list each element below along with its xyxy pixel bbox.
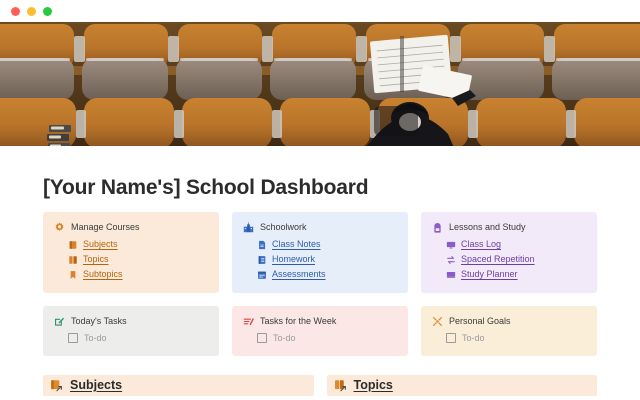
card-tasks-for-the-week: Tasks for the Week To-do [232,306,408,356]
card-header: Personal Goals [432,315,586,327]
database-title[interactable]: Topics [354,378,393,392]
card-title: Personal Goals [449,315,511,327]
link-class-log[interactable]: Class Log [446,237,586,252]
todo-label: To-do [84,331,107,345]
gear-icon [54,222,65,233]
open-book-link-icon [334,379,347,392]
monitor-icon [446,240,456,250]
link-label: Assessments [272,267,326,282]
page-content: [Your Name's] School Dashboard Manage Co… [0,176,640,400]
refresh-arrows-icon [446,255,456,265]
link-spaced-repetition[interactable]: Spaced Repetition [446,252,586,267]
task-card-row: Today's Tasks To-do [43,306,597,356]
book-icon [68,240,78,250]
link-label: Subjects [83,237,118,252]
stacked-books-icon [45,124,75,146]
todo-item[interactable]: To-do [54,331,208,345]
todo-checkbox[interactable] [257,333,267,343]
card-personal-goals: Personal Goals To-do [421,306,597,356]
book-link-icon [50,379,63,392]
link-subtopics[interactable]: Subtopics [68,267,208,282]
card-link-list: Class Log Spaced Repetition [432,237,586,282]
todo-item[interactable]: To-do [243,331,397,345]
page-title: [Your Name's] School Dashboard [43,176,597,200]
card-manage-courses: Manage Courses Subjects [43,212,219,293]
app-window: [Your Name's] School Dashboard Manage Co… [0,0,640,400]
card-header: Today's Tasks [54,315,208,327]
todo-label: To-do [462,331,485,345]
card-todays-tasks: Today's Tasks To-do [43,306,219,356]
link-topics[interactable]: Topics [68,252,208,267]
card-title: Today's Tasks [71,315,127,327]
database-subjects: Subjects [43,375,314,400]
card-link-list: Subjects Topics [54,237,208,282]
card-header: Lessons and Study [432,221,586,233]
close-button[interactable] [11,7,20,16]
link-label: Spaced Repetition [461,252,535,267]
link-label: Study Planner [461,267,518,282]
database-header: Subjects [43,375,314,396]
link-label: Subtopics [83,267,123,282]
checklist-pen-icon [243,316,254,327]
card-header: Schoolwork [243,221,397,233]
link-label: Homework [272,252,315,267]
database-title[interactable]: Subjects [70,378,122,392]
todo-item[interactable]: To-do [432,331,586,345]
link-homework[interactable]: Homework [257,252,397,267]
card-title: Lessons and Study [449,221,526,233]
backpack-icon [432,222,443,233]
school-building-icon [243,222,254,233]
link-class-notes[interactable]: Class Notes [257,237,397,252]
link-study-planner[interactable]: Study Planner [446,267,586,282]
todo-checkbox[interactable] [446,333,456,343]
card-header: Manage Courses [54,221,208,233]
todo-label: To-do [273,331,296,345]
link-label: Class Notes [272,237,321,252]
cover-image [0,22,640,146]
card-lessons-and-study: Lessons and Study Class Log [421,212,597,293]
link-label: Class Log [461,237,501,252]
note-page-icon [257,240,267,250]
database-topics: Topics [327,375,598,400]
link-assessments[interactable]: Assessments [257,267,397,282]
card-schoolwork: Schoolwork Class Notes [232,212,408,293]
card-title: Tasks for the Week [260,315,336,327]
window-titlebar [0,0,640,22]
card-link-list: Class Notes Homework [243,237,397,282]
notebook-icon [257,255,267,265]
link-subjects[interactable]: Subjects [68,237,208,252]
database-header: Topics [327,375,598,396]
todo-checkbox[interactable] [68,333,78,343]
pencil-square-icon [54,316,65,327]
card-title: Manage Courses [71,221,140,233]
zoom-button[interactable] [43,7,52,16]
card-header: Tasks for the Week [243,315,397,327]
database-section-row: Subjects [43,375,597,400]
bookmark-icon [68,270,78,280]
target-arrows-icon [432,316,443,327]
minimize-button[interactable] [27,7,36,16]
link-label: Topics [83,252,109,267]
open-book-icon [68,255,78,265]
desktop-icon [446,270,456,280]
calendar-icon [257,270,267,280]
link-card-row: Manage Courses Subjects [43,212,597,293]
card-title: Schoolwork [260,221,307,233]
